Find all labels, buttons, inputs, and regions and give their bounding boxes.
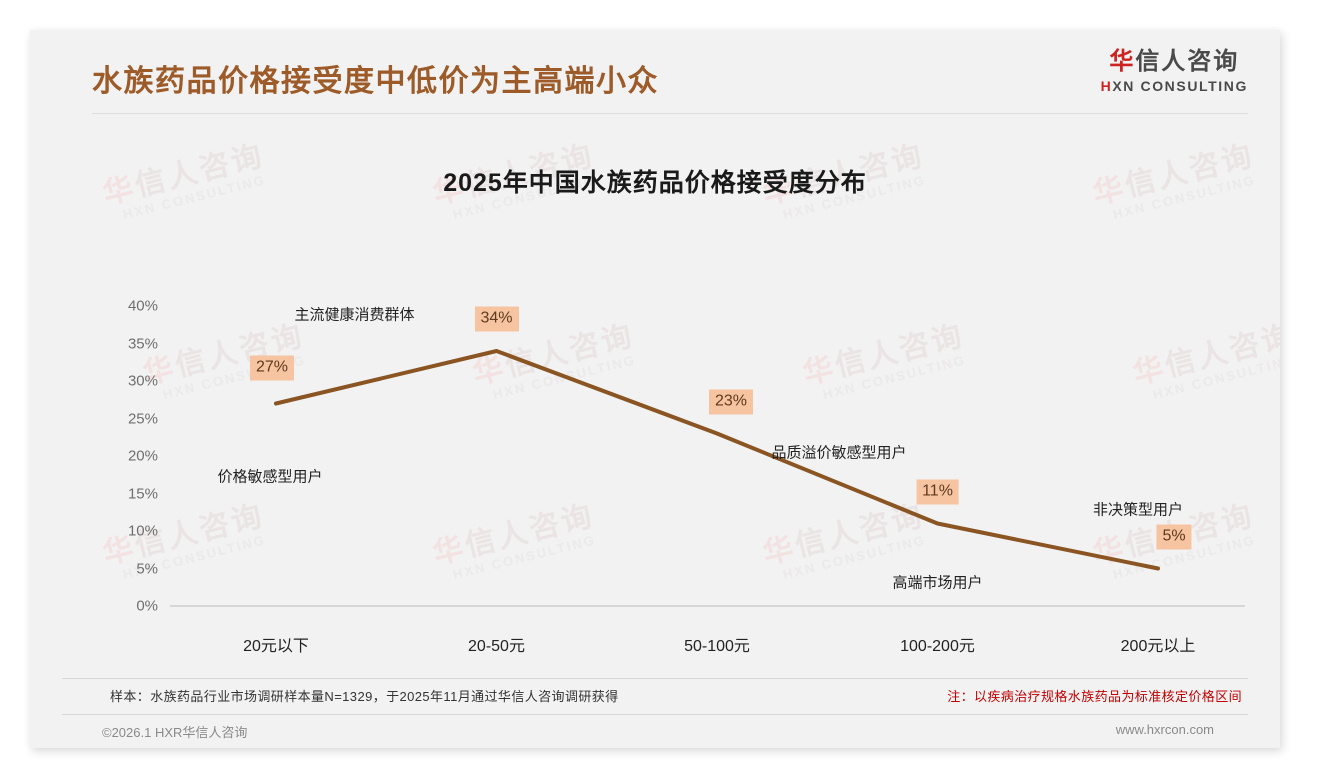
- data-value-label: 27%: [250, 355, 294, 380]
- segment-annotation: 主流健康消费群体: [294, 304, 414, 325]
- x-axis-tick: 20元以下: [243, 632, 309, 656]
- sample-note: 样本：水族药品行业市场调研样本量N=1329，于2025年11月通过华信人咨询调…: [110, 686, 619, 705]
- y-axis-tick: 10%: [110, 523, 158, 540]
- logo-english: HXN CONSULTING: [1101, 78, 1248, 94]
- footer-divider-top: [62, 678, 1248, 679]
- slide-canvas: 华信人咨询HXN CONSULTING华信人咨询HXN CONSULTING华信…: [30, 30, 1280, 748]
- logo-english-accent: H: [1101, 78, 1113, 94]
- methodology-note: 注：以疾病治疗规格水族药品为标准核定价格区间: [947, 686, 1242, 705]
- y-axis-tick: 25%: [110, 410, 158, 427]
- x-axis-tick: 200元以上: [1121, 632, 1196, 656]
- segment-annotation: 非决策型用户: [1093, 498, 1183, 519]
- data-value-label: 5%: [1156, 524, 1191, 549]
- page-title: 水族药品价格接受度中低价为主高端小众: [92, 56, 659, 100]
- copyright-text: ©2026.1 HXR华信人咨询: [102, 722, 247, 741]
- y-axis-tick: 30%: [110, 373, 158, 390]
- y-axis-tick: 20%: [110, 448, 158, 465]
- website-link[interactable]: www.hxrcon.com: [1116, 722, 1214, 737]
- data-series-line: [276, 351, 1158, 569]
- header-divider: [92, 113, 1248, 114]
- chart-plot-area: 40%35%30%25%20%15%10%5%0%20元以下20-50元50-1…: [30, 230, 1280, 660]
- segment-annotation: 品质溢价敏感型用户: [771, 441, 906, 462]
- chart-title: 2025年中国水族药品价格接受度分布: [30, 163, 1280, 199]
- line-chart-svg: [30, 230, 1280, 660]
- segment-annotation: 高端市场用户: [892, 571, 982, 592]
- y-axis-tick: 0%: [110, 598, 158, 615]
- y-axis-tick: 15%: [110, 485, 158, 502]
- x-axis-tick: 20-50元: [468, 632, 525, 656]
- logo-chinese: 华信人咨询: [1101, 48, 1248, 76]
- segment-annotation: 价格敏感型用户: [217, 465, 322, 486]
- footer-divider-bottom: [62, 714, 1248, 715]
- company-logo: 华信人咨询 HXN CONSULTING: [1101, 48, 1248, 94]
- data-value-label: 11%: [916, 479, 959, 504]
- logo-chinese-accent: 华: [1109, 48, 1135, 75]
- data-value-label: 34%: [474, 307, 518, 332]
- x-axis-tick: 50-100元: [684, 632, 750, 656]
- x-axis-tick: 100-200元: [900, 632, 975, 656]
- slide-header: 水族药品价格接受度中低价为主高端小众 华信人咨询 HXN CONSULTING: [30, 30, 1280, 113]
- y-axis-tick: 40%: [110, 298, 158, 315]
- y-axis-tick: 35%: [110, 335, 158, 352]
- logo-chinese-rest: 信人咨询: [1135, 48, 1239, 75]
- logo-english-rest: XN CONSULTING: [1112, 78, 1248, 94]
- data-value-label: 23%: [709, 389, 753, 414]
- y-axis-tick: 5%: [110, 560, 158, 577]
